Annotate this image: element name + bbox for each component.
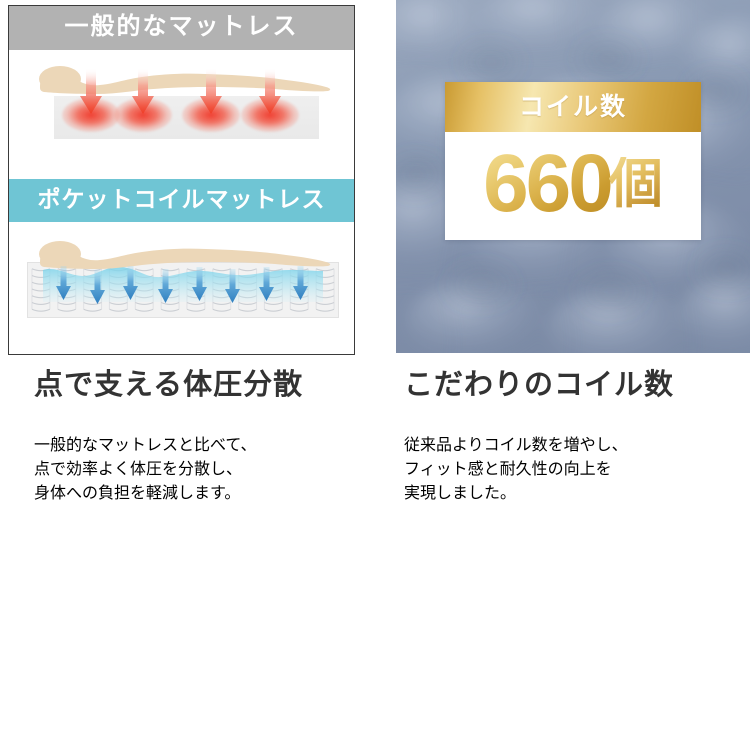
support-arrow-down: [56, 266, 71, 300]
support-arrow-down: [293, 266, 308, 300]
sleeping-body-figure: [34, 232, 334, 280]
feature-body-line: 一般的なマットレスと比べて、: [34, 431, 364, 455]
feature-body-line: 従来品よりコイル数を増やし、: [404, 431, 744, 455]
feature-body-line: フィット感と耐久性の向上を: [404, 455, 744, 479]
panel-header-pocket-coil: ポケットコイルマットレス: [9, 179, 354, 222]
feature-body-line: 実現しました。: [404, 479, 744, 503]
panel-header-generic-mattress: 一般的なマットレス: [9, 6, 354, 50]
illustration-pocket-coil: [9, 222, 354, 353]
support-arrow-down: [192, 267, 207, 301]
support-arrow-down: [259, 267, 274, 301]
feature-body-line: 点で効率よく体圧を分散し、: [34, 455, 364, 479]
coil-count-unit: 個: [609, 157, 663, 211]
support-arrow-down: [158, 269, 173, 303]
pressure-arrow-down: [132, 68, 154, 114]
infographic-page: 一般的なマットレス: [0, 0, 750, 750]
pressure-arrow-down: [80, 68, 102, 114]
support-arrow-down: [225, 269, 240, 303]
support-arrow-down: [90, 270, 105, 304]
feature-block-right: こだわりのコイル数 従来品よりコイル数を増やし、 フィット感と耐久性の向上を 実…: [404, 368, 744, 519]
coil-count-value: 660: [483, 143, 611, 225]
comparison-card: 一般的なマットレス: [8, 5, 355, 355]
feature-title-right: こだわりのコイル数: [404, 368, 744, 403]
support-arrow-down: [123, 266, 138, 300]
pressure-arrow-down: [259, 68, 281, 114]
badge-header: コイル数: [445, 82, 701, 132]
feature-body-line: 身体への負担を軽減します。: [34, 479, 364, 503]
badge-body: 660 個: [445, 132, 701, 240]
sleeping-body-figure: [34, 57, 334, 105]
feature-block-left: 点で支える体圧分散 一般的なマットレスと比べて、 点で効率よく体圧を分散し、 身…: [34, 368, 364, 519]
pressure-arrow-down: [200, 68, 222, 114]
coil-count-badge: コイル数 660 個: [445, 82, 701, 240]
feature-title-left: 点で支える体圧分散: [34, 368, 364, 403]
badge-header-label: コイル数: [519, 95, 627, 120]
illustration-generic-mattress: [9, 50, 354, 179]
